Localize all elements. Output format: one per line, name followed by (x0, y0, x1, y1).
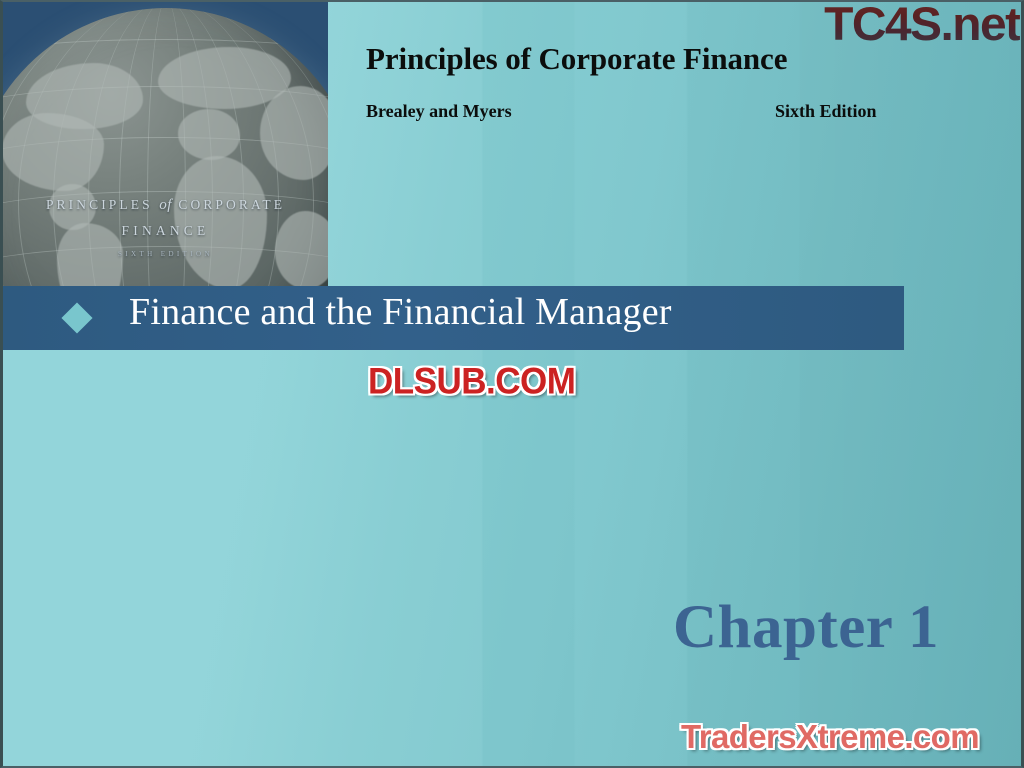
globe-illustration (3, 8, 328, 288)
book-title-heading: Principles of Corporate Finance (366, 41, 787, 77)
presentation-slide: PRINCIPLES of CORPORATE FINANCE SIXTH ED… (0, 0, 1024, 768)
cover-title-principles: PRINCIPLES (46, 197, 153, 212)
authors-label: Brealey and Myers (366, 101, 512, 122)
slide-title-text: Finance and the Financial Manager (129, 290, 672, 334)
watermark-tradersxtreme: TradersXtreme.com (681, 718, 979, 756)
edition-label: Sixth Edition (775, 101, 877, 122)
watermark-tc4s: TC4S.net (824, 0, 1020, 51)
cover-title-corporate: CORPORATE (178, 197, 285, 212)
cover-title-finance: FINANCE (3, 223, 328, 239)
diamond-bullet-icon (61, 302, 92, 333)
chapter-label: Chapter 1 (673, 593, 939, 663)
watermark-dlsub: DLSUB.COM (368, 361, 575, 403)
book-cover-image: PRINCIPLES of CORPORATE FINANCE SIXTH ED… (3, 0, 328, 288)
cover-title-of: of (159, 197, 172, 213)
cover-edition-label: SIXTH EDITION (3, 250, 328, 258)
cover-title-line-1: PRINCIPLES of CORPORATE (3, 197, 328, 214)
slide-title-banner: Finance and the Financial Manager (0, 286, 904, 350)
